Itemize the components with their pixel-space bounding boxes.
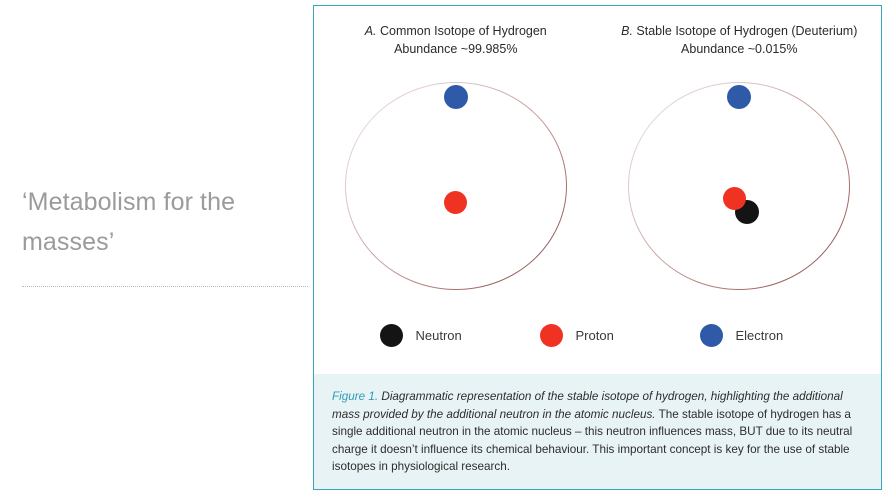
neutron-dot-icon bbox=[380, 324, 403, 347]
figure-caption-box: Figure 1. Diagrammatic representation of… bbox=[314, 374, 881, 489]
panel-a-heading: A. Common Isotope of Hydrogen Abundance … bbox=[314, 22, 598, 58]
slide-left-panel: ‘Metabolism for the masses’ bbox=[0, 0, 313, 495]
legend-label-neutron: Neutron bbox=[416, 328, 462, 343]
atom-diagrams bbox=[314, 68, 881, 308]
legend-label-proton: Proton bbox=[576, 328, 614, 343]
page-title: ‘Metabolism for the masses’ bbox=[22, 182, 292, 262]
panel-b-title: Stable Isotope of Hydrogen (Deuterium) bbox=[633, 24, 857, 38]
figure-panel: A. Common Isotope of Hydrogen Abundance … bbox=[313, 5, 882, 490]
legend-label-electron: Electron bbox=[736, 328, 784, 343]
legend-item-electron: Electron bbox=[678, 324, 838, 347]
figure-caption-text: Figure 1. Diagrammatic representation of… bbox=[332, 388, 863, 476]
figure-legend: Neutron Proton Electron bbox=[314, 324, 881, 347]
legend-item-proton: Proton bbox=[518, 324, 678, 347]
panel-a-title: Common Isotope of Hydrogen bbox=[377, 24, 547, 38]
legend-item-neutron: Neutron bbox=[358, 324, 518, 347]
proton-particle-a bbox=[444, 191, 467, 214]
panel-a-abundance: Abundance ~99.985% bbox=[320, 40, 592, 58]
panel-a-letter: A. bbox=[365, 24, 377, 38]
electron-orbit-a bbox=[345, 82, 567, 290]
electron-particle-b bbox=[727, 85, 751, 109]
title-divider bbox=[22, 286, 308, 288]
atom-diagram-b bbox=[598, 68, 882, 308]
panel-b-heading: B. Stable Isotope of Hydrogen (Deuterium… bbox=[598, 22, 882, 58]
electron-dot-icon bbox=[700, 324, 723, 347]
electron-particle-a bbox=[444, 85, 468, 109]
figure-caption-label: Figure 1. bbox=[332, 390, 378, 403]
proton-dot-icon bbox=[540, 324, 563, 347]
atom-diagram-a bbox=[314, 68, 598, 308]
panel-b-abundance: Abundance ~0.015% bbox=[604, 40, 876, 58]
panel-headings: A. Common Isotope of Hydrogen Abundance … bbox=[314, 22, 881, 58]
electron-orbit-b bbox=[628, 82, 850, 290]
panel-b-letter: B. bbox=[621, 24, 633, 38]
